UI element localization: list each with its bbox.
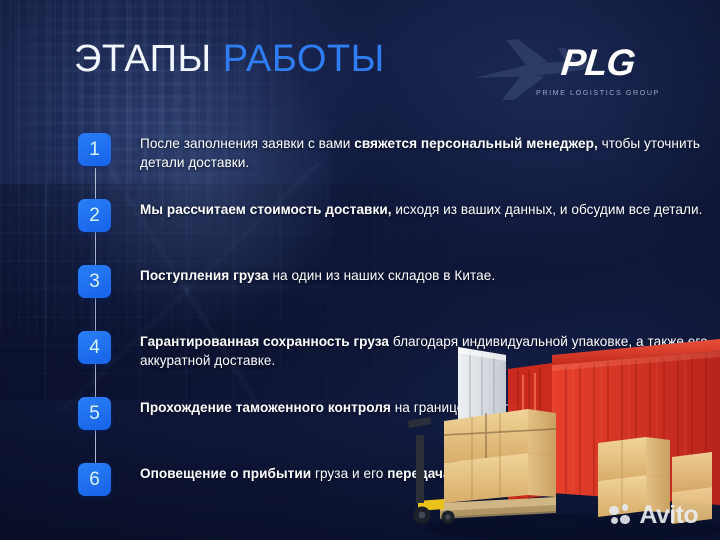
step-item: 3Поступления груза на один из наших скла…	[78, 265, 495, 298]
pallet-with-boxes	[408, 409, 556, 524]
step-number-badge: 2	[78, 199, 111, 232]
step-item: 2Мы рассчитаем стоимость доставки, исход…	[78, 199, 702, 232]
step-number-badge: 6	[78, 463, 111, 496]
step-text-emphasis: Поступления груза	[140, 268, 269, 283]
step-number-badge: 5	[78, 397, 111, 430]
step-text-emphasis: свяжется персональный менеджер,	[354, 136, 598, 151]
step-number-badge: 1	[78, 133, 111, 166]
step-text-plain: на один из наших складов в Китае.	[269, 268, 496, 283]
avito-wordmark: Avito	[639, 503, 698, 528]
step-text-plain: исходя из ваших данных, и обсудим все де…	[392, 202, 703, 217]
avito-dots-icon	[609, 504, 632, 527]
step-number-badge: 4	[78, 331, 111, 364]
step-text-emphasis: Прохождение таможенного контроля	[140, 400, 391, 415]
step-text-emphasis: Гарантированная сохранность груза	[140, 334, 389, 349]
step-item: 1После заполнения заявки с вами свяжется…	[78, 133, 720, 172]
promo-poster: ЭТАПЫ РАБОТЫ PLG PRIME LOGISTICS GROUP 1…	[0, 0, 720, 540]
step-description: После заполнения заявки с вами свяжется …	[140, 133, 720, 172]
step-text-plain: груза и его	[311, 466, 387, 481]
step-text-emphasis: Мы рассчитаем стоимость доставки,	[140, 202, 392, 217]
step-text-plain: После заполнения заявки с вами	[140, 136, 354, 151]
step-number-badge: 3	[78, 265, 111, 298]
step-description: Мы рассчитаем стоимость доставки, исходя…	[140, 199, 702, 219]
step-text-emphasis: Оповещение о прибытии	[140, 466, 311, 481]
step-description: Поступления груза на один из наших склад…	[140, 265, 495, 285]
avito-watermark: Avito	[609, 503, 698, 528]
